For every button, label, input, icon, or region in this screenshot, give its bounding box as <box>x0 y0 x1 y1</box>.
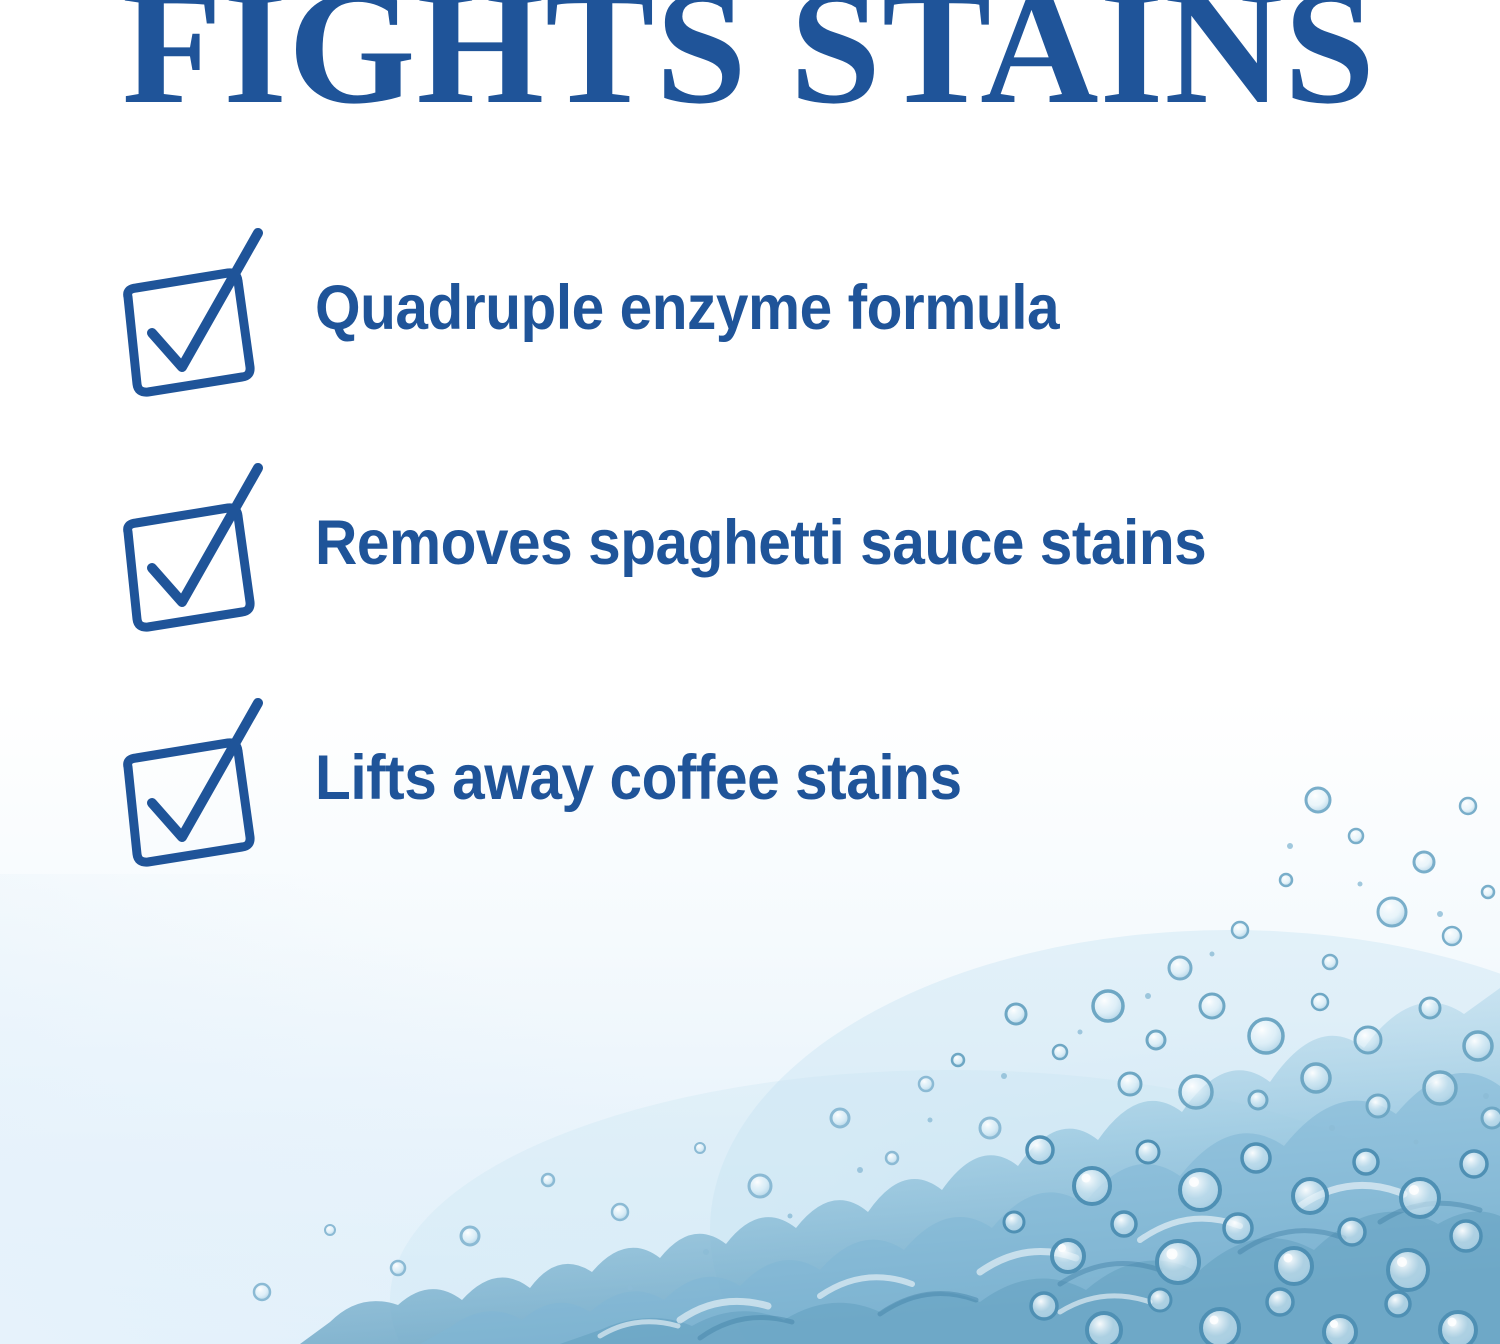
feature-graphic: FIGHTS STAINS Quadruple enzyme formula <box>0 0 1500 1344</box>
feature-label: Lifts away coffee stains <box>315 747 962 810</box>
checkbox-checked-icon <box>110 215 280 400</box>
checkbox-checked-icon <box>110 450 280 635</box>
checkbox-checked-icon <box>110 685 280 870</box>
page-title: FIGHTS STAINS <box>122 0 1376 130</box>
feature-list: Quadruple enzyme formula Removes spaghet… <box>110 215 1430 920</box>
list-item: Lifts away coffee stains <box>110 685 1430 920</box>
feature-label: Removes spaghetti sauce stains <box>315 512 1206 575</box>
list-item: Removes spaghetti sauce stains <box>110 450 1430 685</box>
feature-label: Quadruple enzyme formula <box>315 277 1059 340</box>
list-item: Quadruple enzyme formula <box>110 215 1430 450</box>
background-left-wash <box>0 874 780 1344</box>
